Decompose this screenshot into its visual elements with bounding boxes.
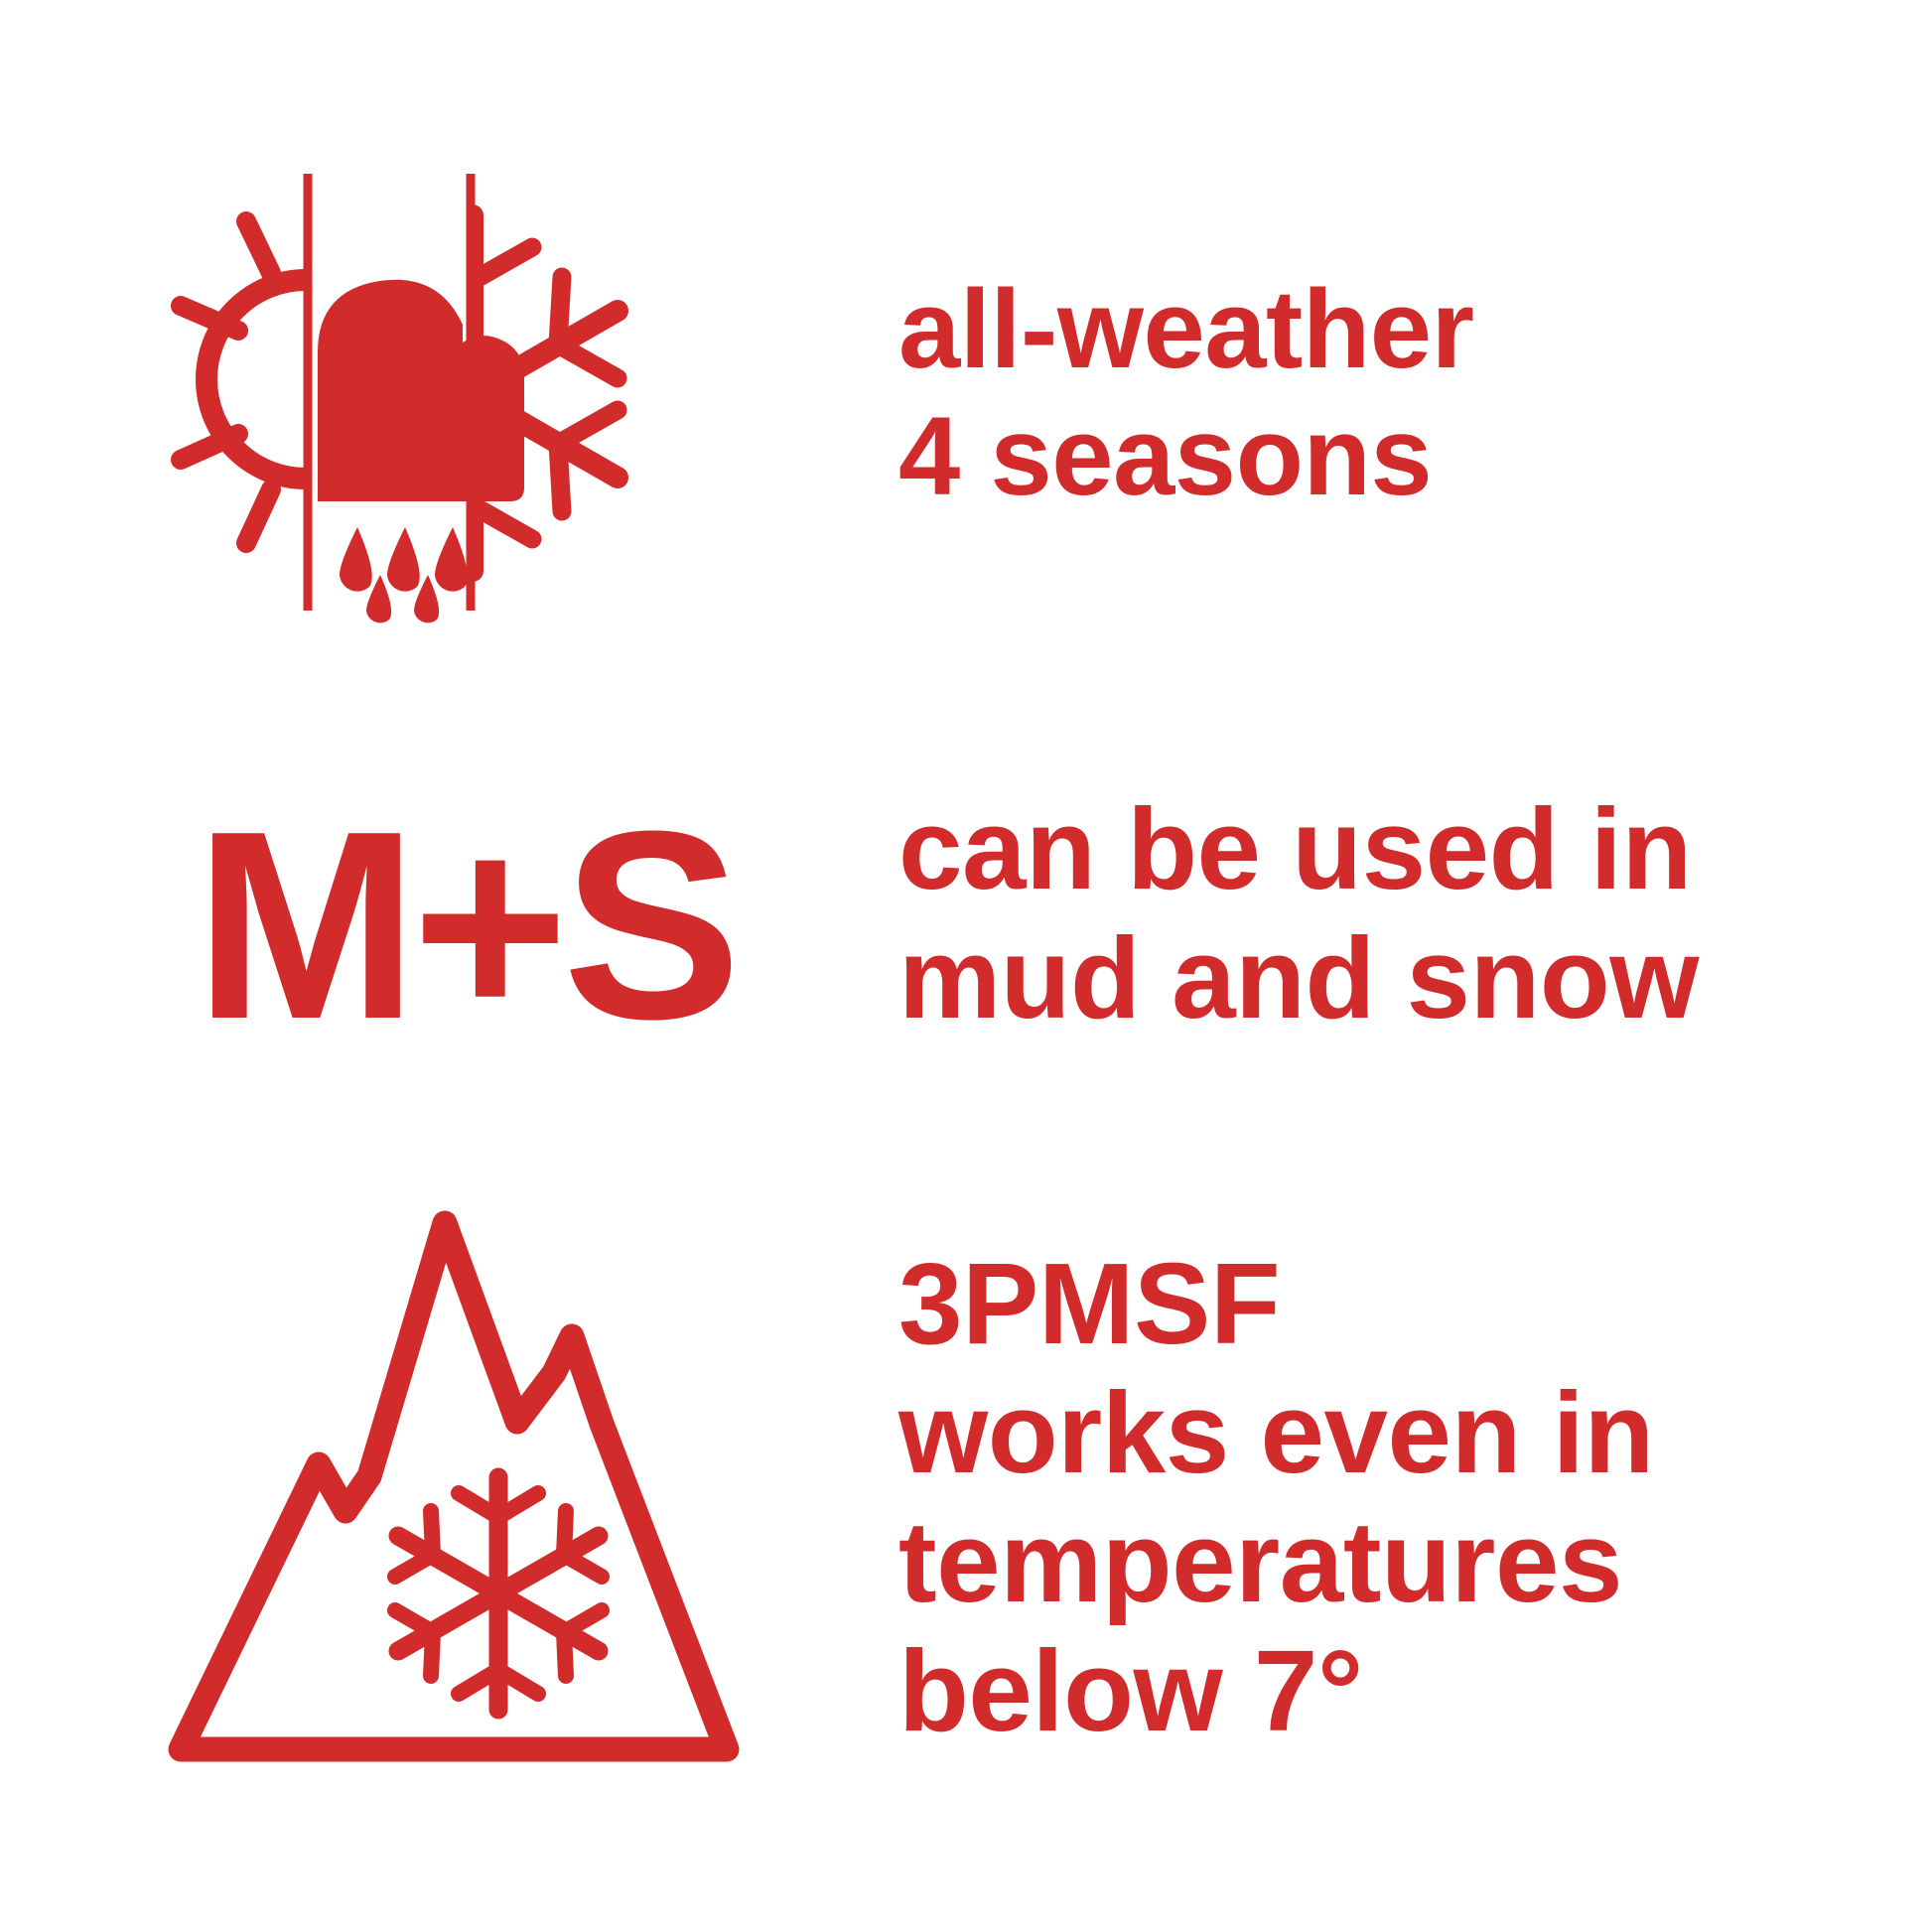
all-weather-four-seasons-icon [169,174,784,611]
feature-line: below 7° [898,1626,1654,1755]
feature-line: temperatures [898,1497,1654,1626]
mountain-outline [181,1223,727,1749]
rain-drops [340,527,468,622]
feature-line: mud and snow [898,913,1699,1042]
feature-line: works even in [898,1368,1654,1497]
m-plus-s-mark: M+S [195,802,736,1050]
snowflake-icon [395,1477,602,1710]
sun-icon [181,221,306,543]
rain-cloud-icon [318,280,524,623]
infographic-canvas: all-weather 4 seasons M+S can be used in… [0,0,1932,1932]
feature-text-mud-and-snow: can be used in mud and snow [898,784,1699,1042]
feature-text-3pmsf: 3PMSF works even in temperatures below 7… [898,1239,1654,1755]
three-peak-mountain-snowflake-icon [175,1213,751,1769]
feature-line: 3PMSF [898,1239,1654,1368]
feature-line: 4 seasons [898,393,1474,520]
feature-line: can be used in [898,784,1699,913]
feature-text-all-weather: all-weather 4 seasons [898,266,1474,520]
feature-line: all-weather [898,266,1474,393]
